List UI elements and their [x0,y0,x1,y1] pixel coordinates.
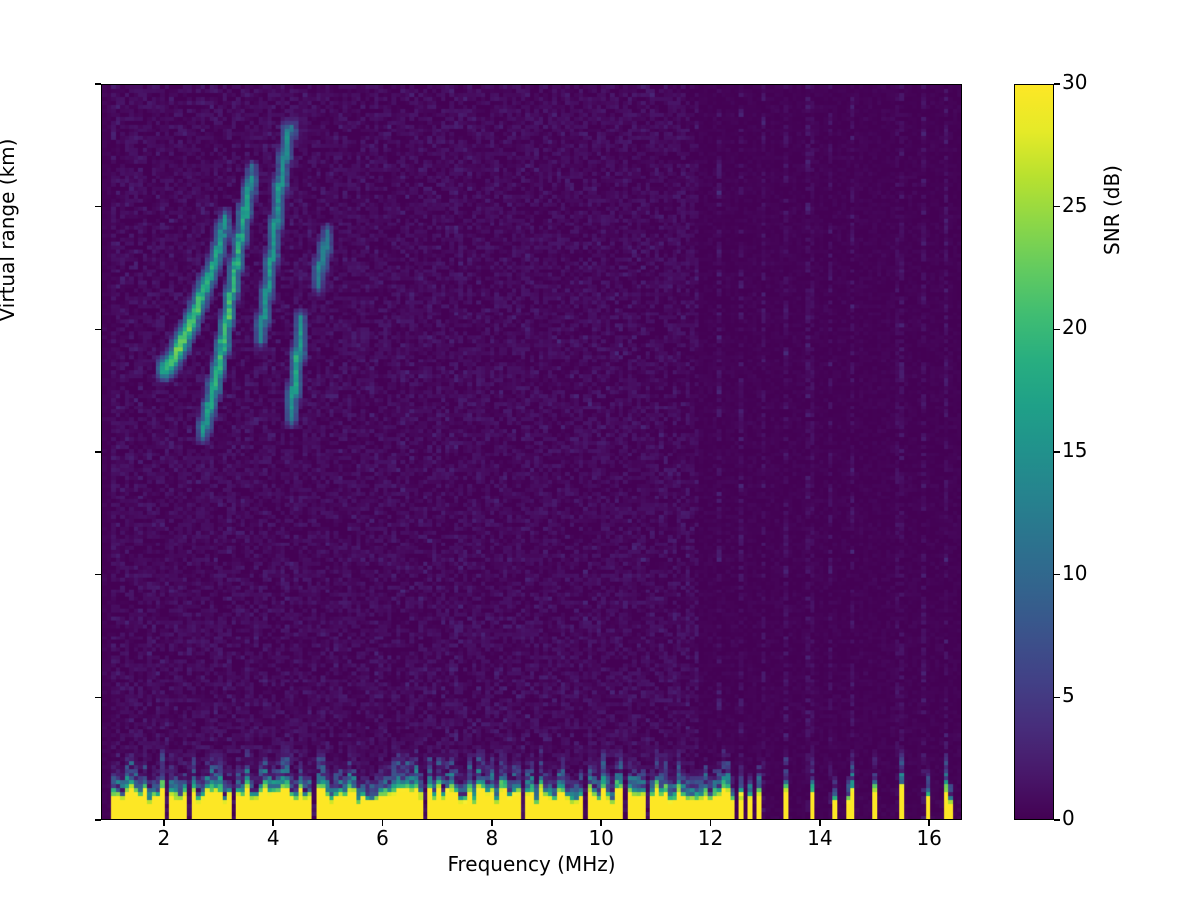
x-tick-label: 16 [889,826,969,850]
y-tick-mark [95,206,101,208]
colorbar-gradient [1015,85,1053,819]
x-tick-label: 8 [452,826,532,850]
colorbar-tick-label: 25 [1062,193,1087,217]
x-tick-label: 14 [780,826,860,850]
x-tick-mark [710,820,712,826]
colorbar-tick-mark [1054,574,1060,576]
y-tick-mark [95,574,101,576]
colorbar-tick-mark [1054,819,1060,821]
colorbar-label: SNR (dB) [1100,90,1124,330]
colorbar [1014,84,1054,820]
ionogram-plot-area [101,84,962,820]
ionogram-figure: IRF Kiruna Ionosonde KI167 2026-03-05 21… [0,0,1200,900]
x-tick-label: 12 [671,826,751,850]
x-tick-label: 4 [233,826,313,850]
x-tick-mark [600,820,602,826]
x-tick-mark [163,820,165,826]
x-axis-label: Frequency (MHz) [101,852,962,876]
x-tick-label: 10 [561,826,641,850]
x-tick-mark [819,820,821,826]
colorbar-tick-mark [1054,329,1060,331]
x-tick-mark [928,820,930,826]
colorbar-tick-mark [1054,697,1060,699]
x-tick-label: 6 [343,826,423,850]
colorbar-tick-label: 5 [1062,683,1075,707]
colorbar-tick-label: 30 [1062,70,1087,94]
colorbar-tick-mark [1054,83,1060,85]
y-tick-mark [95,83,101,85]
x-tick-mark [491,820,493,826]
colorbar-tick-label: 20 [1062,315,1087,339]
colorbar-tick-label: 10 [1062,561,1087,585]
y-axis-label: Virtual range (km) [0,100,19,360]
y-tick-mark [95,697,101,699]
y-tick-mark [95,819,101,821]
colorbar-tick-mark [1054,206,1060,208]
colorbar-tick-label: 15 [1062,438,1087,462]
y-tick-mark [95,329,101,331]
x-tick-mark [272,820,274,826]
x-tick-label: 2 [124,826,204,850]
colorbar-tick-label: 0 [1062,806,1075,830]
ionogram-heatmap-canvas [102,85,961,819]
x-tick-mark [382,820,384,826]
colorbar-tick-mark [1054,451,1060,453]
y-tick-mark [95,451,101,453]
